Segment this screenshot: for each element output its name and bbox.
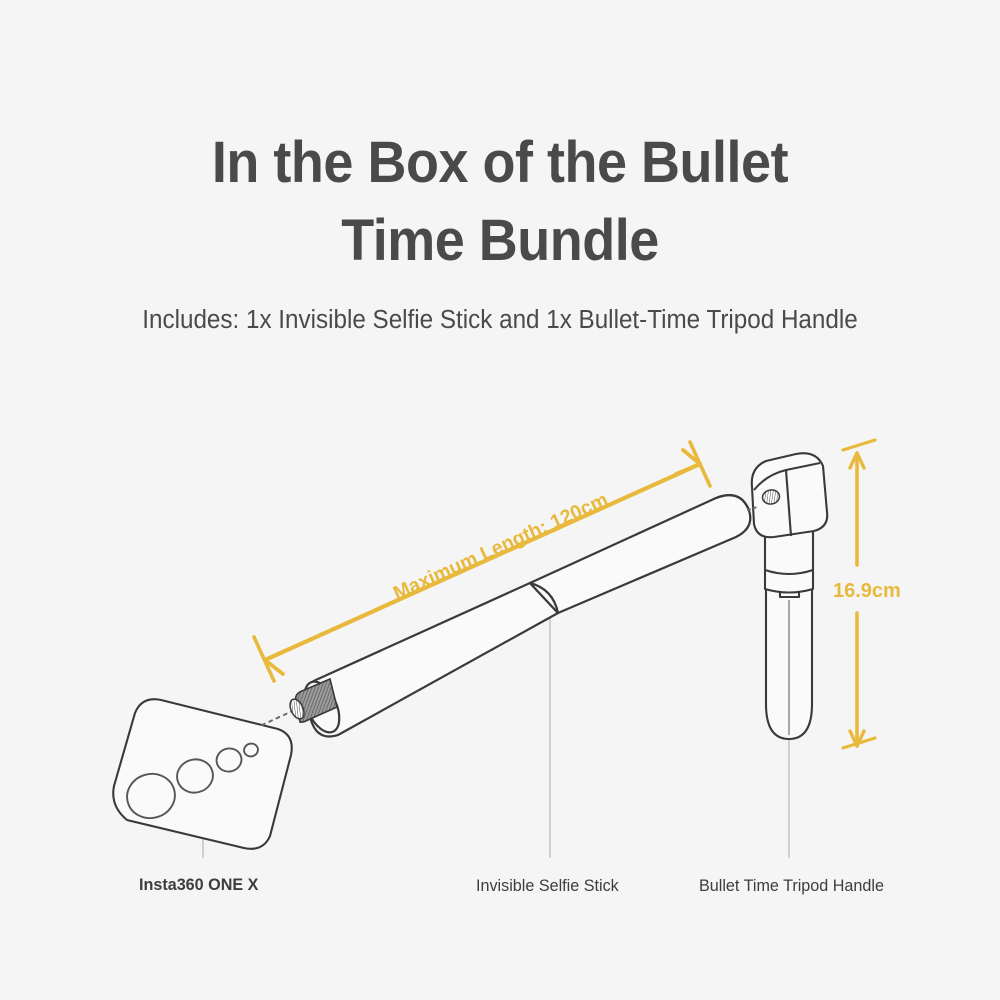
product-illustration: Maximum Length: 120cm: [0, 0, 1000, 1000]
camera-body: [113, 699, 292, 849]
dimension-label-tripod-height: 16.9cm: [833, 580, 901, 602]
caption-tripod-handle: Bullet Time Tripod Handle: [699, 876, 884, 896]
dimension-tick-end: [690, 442, 710, 486]
camera-outline: [113, 699, 292, 849]
caption-camera: Insta360 ONE X: [139, 875, 258, 895]
stick-lower-tube: [304, 583, 558, 737]
caption-selfie-stick: Invisible Selfie Stick: [476, 876, 619, 896]
product-infographic-page: In the Box of the Bullet Time Bundle Inc…: [0, 0, 1000, 1000]
dimension-tick-top: [843, 440, 875, 450]
